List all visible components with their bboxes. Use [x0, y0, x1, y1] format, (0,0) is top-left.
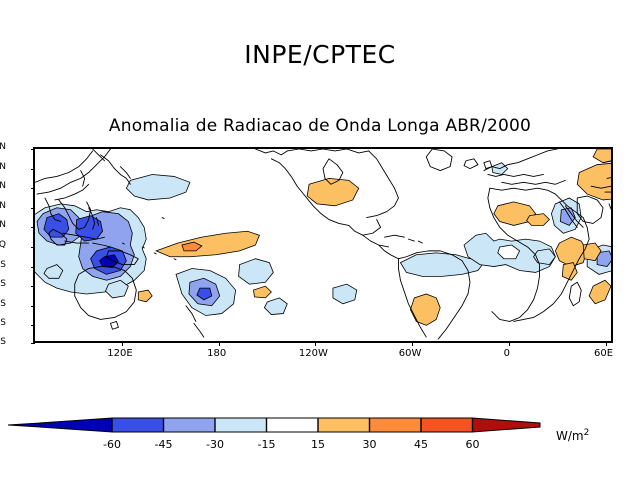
colorbar-tick-label: 30	[363, 438, 377, 451]
colorbar-bin	[164, 418, 216, 432]
shade-coralsea-orange	[138, 290, 152, 302]
shade-se-brazil-orange	[410, 294, 440, 325]
ytick-label: EQ	[0, 241, 6, 250]
ytick-label: 30N	[0, 182, 6, 191]
page-title: INPE/CPTEC	[0, 40, 640, 69]
xtick-label: 120E	[107, 348, 132, 359]
ytick-label: 20N	[0, 202, 6, 211]
units-text: W/m	[556, 429, 584, 443]
shade-nw-pacific-light	[126, 174, 190, 199]
colorbar-tick-label: -45	[155, 438, 173, 451]
ytick-label: 40S	[0, 319, 6, 328]
shade-sahel-orange	[527, 214, 550, 226]
colorbar-tick-label: 60	[466, 438, 480, 451]
olr-anomaly-figure: INPE/CPTEC Anomalia de Radiacao de Onda …	[0, 0, 640, 494]
ytick-label: 50S	[0, 338, 6, 347]
ytick-label: 40N	[0, 163, 6, 172]
colorbar-bin	[112, 418, 164, 432]
ytick-label: 10S	[0, 261, 6, 270]
shade-central-pacific-blob	[239, 259, 274, 284]
shade-north-pacific-orange	[307, 178, 359, 205]
ytick-label: 10N	[0, 221, 6, 230]
colorbar-bin	[421, 418, 473, 432]
colorbar-tick-label: -30	[206, 438, 224, 451]
colorbar-bin	[215, 418, 267, 432]
colorbar: -60 -45 -30 -15 15 30 45 60	[0, 405, 640, 465]
colorbar-units-label: W/m2	[556, 428, 589, 443]
xtick-label: 180	[207, 348, 226, 359]
shade-equatorial-pacific-orange	[156, 231, 259, 256]
shade-arabia-orange	[577, 163, 611, 200]
shade-sw-indian-orange	[589, 280, 611, 304]
colorbar-extend-low-tip	[8, 423, 40, 427]
xtick-label: 60W	[399, 348, 422, 359]
chart-subtitle: Anomalia de Radiacao de Onda Longa ABR/2…	[0, 116, 640, 136]
shade-south-pacific-blob	[264, 298, 287, 315]
units-exponent: 2	[584, 428, 590, 438]
colorbar-bin	[267, 418, 319, 432]
xtick-label: 60E	[594, 348, 613, 359]
colorbar-tick-label: 45	[414, 438, 428, 451]
shade-arabia-orange-top	[593, 149, 611, 163]
anomaly-contour-map	[35, 149, 611, 341]
shade-east-africa-orange	[555, 237, 587, 266]
ytick-label: 30S	[0, 300, 6, 309]
colorbar-extend-high	[473, 418, 541, 432]
xtick-label: 0	[504, 348, 510, 359]
ytick-label: 20S	[0, 280, 6, 289]
xtick-label: 120W	[299, 348, 328, 359]
ytick-label: 50N	[0, 143, 6, 152]
colorbar-bin	[370, 418, 422, 432]
colorbar-extend-low	[40, 418, 112, 432]
colorbar-bin	[318, 418, 370, 432]
map-plot-area	[33, 147, 613, 343]
map-canvas	[35, 149, 611, 341]
colorbar-tick-label: -15	[258, 438, 276, 451]
shade-se-pacific-orange	[253, 286, 271, 298]
colorbar-tick-label: 15	[311, 438, 325, 451]
shade-off-peru-light	[333, 284, 357, 304]
colorbar-tick-label: -60	[103, 438, 121, 451]
